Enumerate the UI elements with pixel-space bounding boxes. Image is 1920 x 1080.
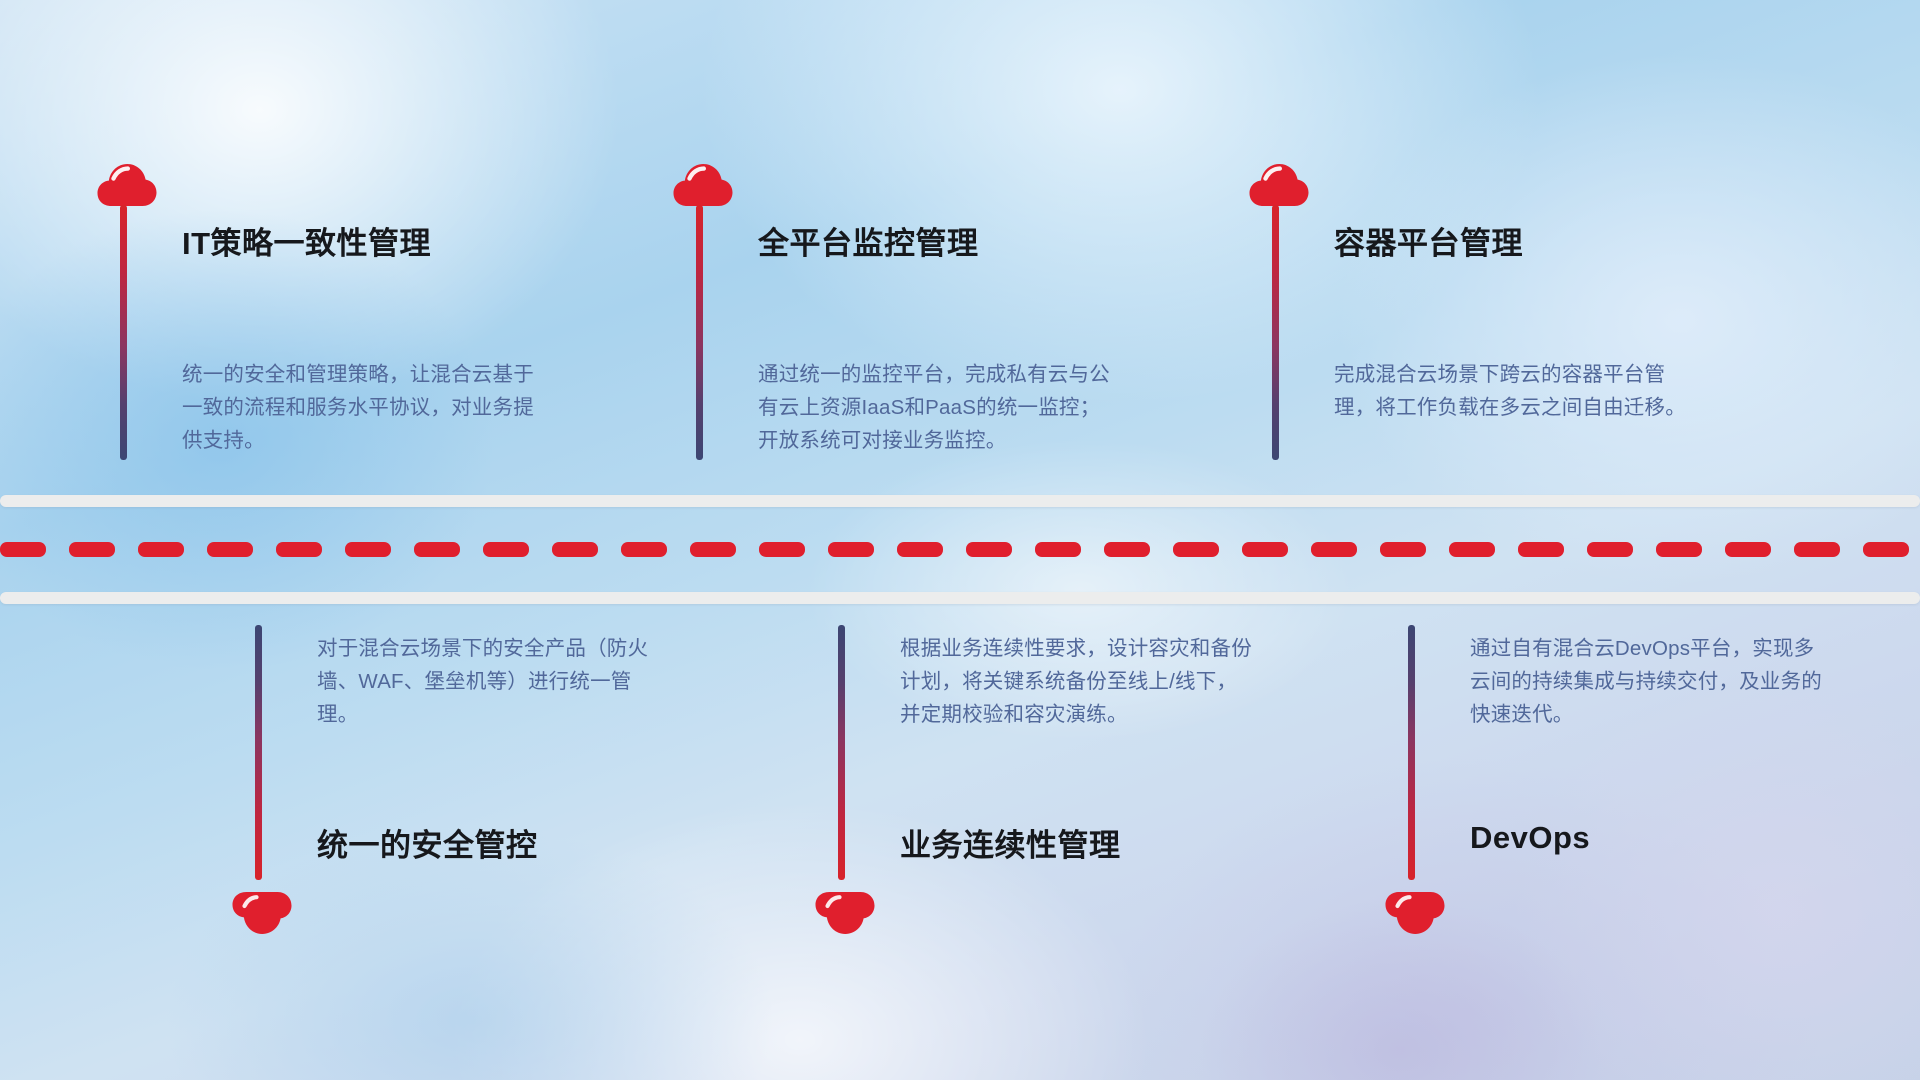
card-title: 容器平台管理 bbox=[1334, 218, 1523, 263]
road-dash bbox=[138, 542, 184, 557]
card-body: 对于混合云场景下的安全产品（防火墙、WAF、堡垒机等）进行统一管理。 bbox=[317, 632, 669, 731]
card-title: DevOps bbox=[1470, 820, 1590, 856]
road-dash bbox=[1104, 542, 1150, 557]
road-dash bbox=[897, 542, 943, 557]
stem-line bbox=[1408, 625, 1415, 880]
road-dashed-centerline bbox=[0, 542, 1920, 557]
cloud-icon bbox=[814, 890, 876, 938]
cloud-icon bbox=[1384, 890, 1446, 938]
road-dash bbox=[414, 542, 460, 557]
road-dash bbox=[552, 542, 598, 557]
road-dash bbox=[345, 542, 391, 557]
road-dash bbox=[1449, 542, 1495, 557]
background-bloom bbox=[60, 760, 880, 1080]
road-dash bbox=[1035, 542, 1081, 557]
road-dash bbox=[1587, 542, 1633, 557]
cloud-icon bbox=[231, 890, 293, 938]
road-dash bbox=[1380, 542, 1426, 557]
road-dash bbox=[207, 542, 253, 557]
card-title: IT策略一致性管理 bbox=[182, 218, 431, 263]
card-title: 业务连续性管理 bbox=[900, 820, 1121, 865]
stem-line bbox=[1272, 205, 1279, 460]
road-dash bbox=[1173, 542, 1219, 557]
road-dash bbox=[0, 542, 46, 557]
road-dash bbox=[690, 542, 736, 557]
road-dash bbox=[1725, 542, 1771, 557]
cloud-icon bbox=[1248, 160, 1310, 208]
card-body: 统一的安全和管理策略，让混合云基于一致的流程和服务水平协议，对业务提供支持。 bbox=[182, 358, 534, 457]
card-body: 通过自有混合云DevOps平台，实现多云间的持续集成与持续交付，及业务的快速迭代… bbox=[1470, 632, 1822, 731]
road-dash bbox=[1794, 542, 1840, 557]
card-body: 根据业务连续性要求，设计容灾和备份计划，将关键系统备份至线上/线下，并定期校验和… bbox=[900, 632, 1252, 731]
road-dash bbox=[1656, 542, 1702, 557]
road-dash bbox=[1863, 542, 1909, 557]
stem-line bbox=[838, 625, 845, 880]
stem-line bbox=[255, 625, 262, 880]
road-dash bbox=[828, 542, 874, 557]
card-title: 统一的安全管控 bbox=[317, 820, 538, 865]
road-dash bbox=[69, 542, 115, 557]
cloud-icon bbox=[96, 160, 158, 208]
road-dash bbox=[276, 542, 322, 557]
road-dash bbox=[1311, 542, 1357, 557]
stem-line bbox=[696, 205, 703, 460]
road-dash bbox=[1242, 542, 1288, 557]
background-bloom bbox=[300, 700, 1300, 1080]
road-dash bbox=[483, 542, 529, 557]
road-dash bbox=[966, 542, 1012, 557]
road-dash bbox=[1518, 542, 1564, 557]
cloud-icon bbox=[672, 160, 734, 208]
background-bloom bbox=[1120, 840, 1680, 1080]
card-title: 全平台监控管理 bbox=[758, 218, 979, 263]
road-dash bbox=[621, 542, 667, 557]
card-body: 完成混合云场景下跨云的容器平台管理，将工作负载在多云之间自由迁移。 bbox=[1334, 358, 1686, 424]
road-edge-bottom bbox=[0, 592, 1920, 604]
stem-line bbox=[120, 205, 127, 460]
road-edge-top bbox=[0, 495, 1920, 507]
card-body: 通过统一的监控平台，完成私有云与公有云上资源IaaS和PaaS的统一监控；开放系… bbox=[758, 358, 1110, 457]
road-dash bbox=[759, 542, 805, 557]
infographic-canvas: IT策略一致性管理 统一的安全和管理策略，让混合云基于一致的流程和服务水平协议，… bbox=[0, 0, 1920, 1080]
